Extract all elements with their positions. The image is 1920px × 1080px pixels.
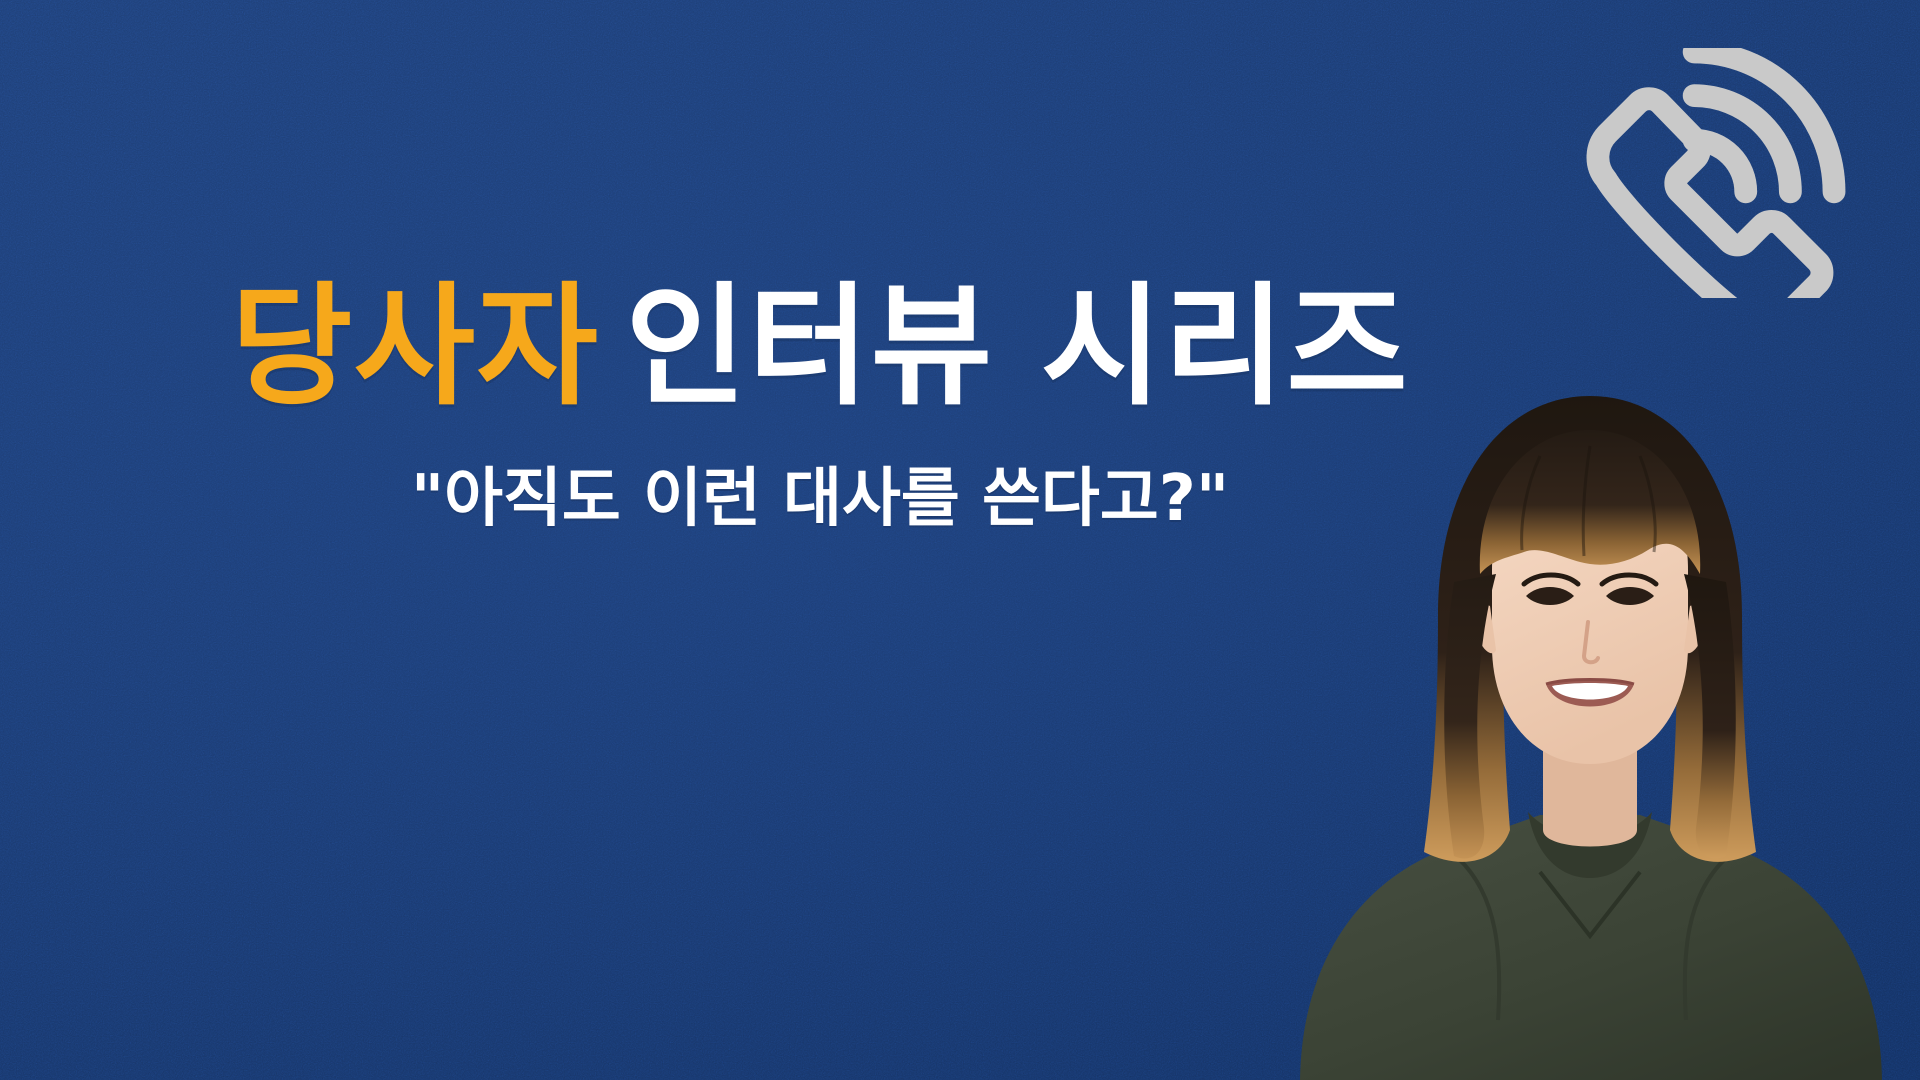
portrait-hair-sides: [1444, 574, 1736, 858]
title-rest: 인터뷰 시리즈: [625, 270, 1409, 424]
portrait-mouth: [1546, 680, 1634, 707]
title-card-canvas: 당사자인터뷰 시리즈 "아직도 이런 대사를 쓴다고?": [0, 0, 1920, 1080]
subtitle: "아직도 이런 대사를 쓴다고?": [0, 463, 1640, 537]
headline-block: 당사자인터뷰 시리즈 "아직도 이런 대사를 쓴다고?": [0, 0, 1640, 536]
page-title: 당사자인터뷰 시리즈: [0, 276, 1640, 419]
portrait-neck: [1543, 732, 1637, 847]
portrait-eyes: [1524, 575, 1656, 605]
title-highlight: 당사자: [231, 270, 599, 424]
portrait-body: [1300, 812, 1882, 1080]
portrait-nose: [1584, 622, 1598, 662]
